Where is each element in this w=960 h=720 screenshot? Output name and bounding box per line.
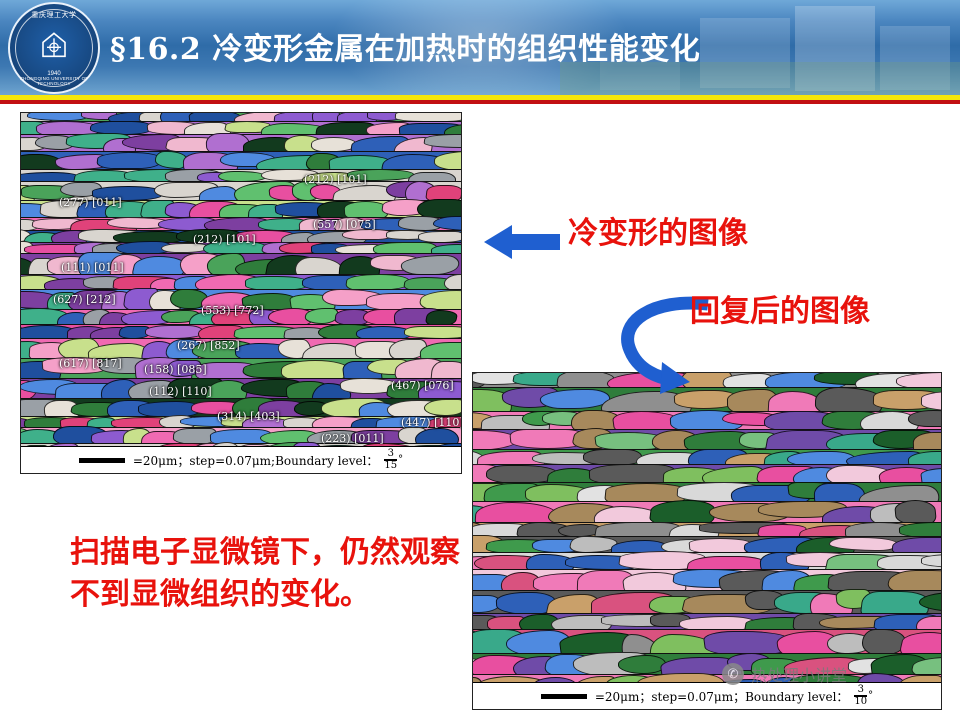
orientation-label: (223) [011] <box>321 432 384 445</box>
scalebar-angle-bottom: 15 <box>384 460 397 471</box>
grain <box>424 310 459 326</box>
grain <box>218 171 267 182</box>
scalebar-right: =20μm；step=0.07μm；Boundary level： 3 10 ° <box>473 682 941 709</box>
scalebar-segment-icon <box>79 458 125 463</box>
scalebar-text: =20μm；step=0.07μm；Boundary level： <box>595 688 849 705</box>
grain <box>583 449 642 466</box>
orientation-label: (617) [817] <box>59 357 122 370</box>
grain <box>422 399 461 416</box>
logo-emblem-icon <box>34 30 74 64</box>
logo-name-en: CHONGQING UNIVERSITY OF TECHNOLOGY <box>10 76 98 86</box>
wechat-icon: ✆ <box>722 663 744 685</box>
annotation-cold-deformed: 冷变形的图像 <box>568 208 748 252</box>
slide-title: §16.2 冷变形金属在加热时的组织性能变化 <box>110 24 910 68</box>
scalebar-angle-range: 3 10 <box>854 685 867 707</box>
watermark: ✆ 热处理小讲堂 <box>722 660 847 688</box>
orientation-label: (112) [110] <box>149 385 212 398</box>
scalebar-angle-range: 3 15 <box>384 449 397 471</box>
slide-caption: 扫描电子显微镜下，仍然观察不到显微组织的变化。 <box>70 532 470 616</box>
annotation-recovered: 回复后的图像 <box>690 286 870 330</box>
orientation-label: (627) [212] <box>53 293 116 306</box>
orientation-label: (314) [403] <box>217 410 280 423</box>
scalebar-angle-bottom: 10 <box>854 696 867 707</box>
orientation-label: (447) [110] <box>401 416 462 429</box>
watermark-text: 热处理小讲堂 <box>751 662 847 686</box>
grain <box>423 134 461 148</box>
grain <box>618 655 666 674</box>
scalebar-degree-symbol: ° <box>398 455 403 465</box>
arrow-left-icon <box>482 222 560 262</box>
orientation-label: (212) [101] <box>304 173 367 186</box>
orientation-label: (267) [852] <box>177 339 240 352</box>
orientation-label: (557) [075] <box>313 218 376 231</box>
orientation-label: (111) [011] <box>61 261 124 274</box>
grain <box>96 152 162 169</box>
orientation-label: (467) [076] <box>391 379 454 392</box>
university-logo: 重庆理工大学 1940 CHONGQING UNIVERSITY OF TECH… <box>8 2 100 94</box>
micrograph-recovered: =20μm；step=0.07μm；Boundary level： 3 10 ° <box>472 372 942 710</box>
orientation-label: (158) [085] <box>144 363 207 376</box>
orientation-label: (277) [011] <box>59 196 122 209</box>
logo-name-cn: 重庆理工大学 <box>10 10 98 20</box>
grain-field-right <box>473 373 941 709</box>
divider-red <box>0 100 960 104</box>
scalebar-text: =20μm；step=0.07μm;Boundary level： <box>133 452 379 469</box>
scalebar-left: =20μm；step=0.07μm;Boundary level： 3 15 ° <box>21 446 461 473</box>
orientation-label: (212) [101] <box>193 233 256 246</box>
slide-header: 重庆理工大学 1940 CHONGQING UNIVERSITY OF TECH… <box>0 0 960 95</box>
scalebar-segment-icon <box>541 694 587 699</box>
scalebar-degree-symbol: ° <box>868 691 873 701</box>
micrograph-cold-deformed: (212) [101] (277) [011] (557) [075] (212… <box>20 112 462 474</box>
orientation-label: (553) [772] <box>201 304 264 317</box>
grain <box>145 325 203 339</box>
